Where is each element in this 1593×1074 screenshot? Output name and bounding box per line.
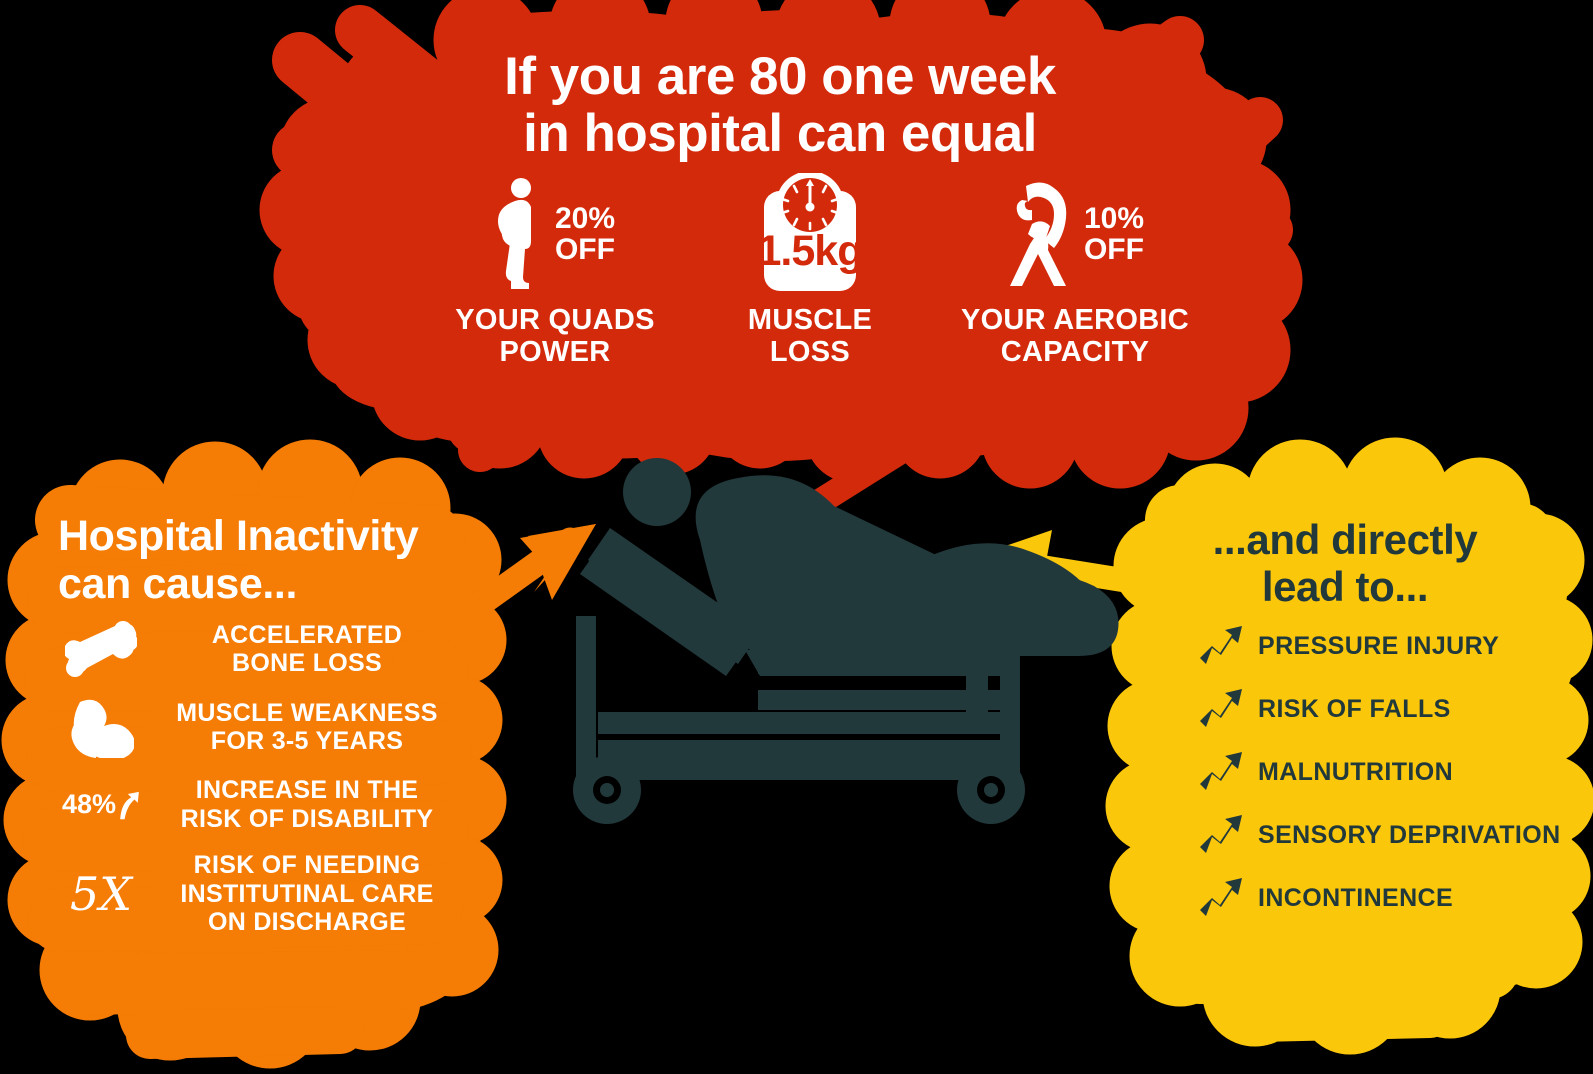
trend-up-icon (1198, 622, 1244, 671)
red-headline-line-2: in hospital can equal (430, 105, 1130, 162)
multiplier-badge: 5X (70, 867, 132, 921)
stat-aerobic-value: 10% OFF (1084, 204, 1144, 265)
list-item: INCONTINENCE (1198, 867, 1588, 930)
trend-up-icon (1198, 874, 1244, 923)
yellow-headline-line-1: ...and directly (1175, 516, 1515, 563)
orange-causes-list: ACCELERATED BONE LOSS MUSCLE WEAKNESS FO… (62, 620, 462, 955)
list-item: 5X RISK OF NEEDING INSTITUTINAL CARE ON … (62, 851, 462, 937)
list-item: SENSORY DEPRIVATION (1198, 804, 1588, 867)
red-panel-headline: If you are 80 one week in hospital can e… (430, 48, 1130, 162)
list-item: PRESSURE INJURY (1198, 615, 1588, 678)
list-item-label: MALNUTRITION (1258, 758, 1453, 787)
standing-person-icon (495, 177, 547, 294)
list-item: ACCELERATED BONE LOSS (62, 620, 462, 678)
stat-muscle-loss: 1.5kg MUSCLE LOSS (685, 175, 935, 369)
trend-up-icon (1198, 748, 1244, 797)
orange-panel-headline: Hospital Inactivity can cause... (58, 512, 478, 608)
red-headline-line-1: If you are 80 one week (430, 48, 1130, 105)
stat-quads-value: 20% OFF (555, 204, 615, 265)
list-item: RISK OF FALLS (1198, 678, 1588, 741)
orange-headline-line-1: Hospital Inactivity (58, 512, 478, 560)
infographic-canvas: If you are 80 one week in hospital can e… (0, 0, 1593, 1074)
stat-aerobic-label: YOUR AEROBIC CAPACITY (935, 305, 1215, 369)
list-item-label: RISK OF FALLS (1258, 695, 1451, 724)
weight-scale-icon: 1.5kg (750, 173, 870, 298)
yellow-panel-headline: ...and directly lead to... (1175, 516, 1515, 610)
list-item-label: PRESSURE INJURY (1258, 632, 1499, 661)
red-stats-row: 20% OFF YOUR QUADS POWER (430, 175, 1230, 375)
increase-percent-badge: 48% (62, 789, 116, 820)
stat-aerobic-capacity: 10% OFF YOUR AEROBIC CAPACITY (935, 175, 1215, 369)
orange-headline-line-2: can cause... (58, 560, 478, 608)
list-item-label: MUSCLE WEAKNESS FOR 3-5 YEARS (152, 699, 462, 756)
patient-in-hospital-bed-icon (573, 458, 1119, 824)
stretching-person-icon (1006, 178, 1076, 293)
list-item-label: RISK OF NEEDING INSTITUTINAL CARE ON DIS… (152, 851, 462, 937)
bicep-muscle-icon (62, 696, 140, 758)
trend-up-icon (1198, 811, 1244, 860)
list-item-label: ACCELERATED BONE LOSS (152, 621, 462, 678)
stat-quads-label: YOUR QUADS POWER (430, 305, 680, 369)
up-arrow-icon: 48% (62, 777, 140, 833)
list-item: MUSCLE WEAKNESS FOR 3-5 YEARS (62, 696, 462, 758)
list-item-label: SENSORY DEPRIVATION (1258, 821, 1561, 850)
stat-muscle-label: MUSCLE LOSS (685, 305, 935, 369)
list-item: MALNUTRITION (1198, 741, 1588, 804)
multiplier-icon: 5X (62, 867, 140, 921)
list-item: 48% INCREASE IN THE RISK OF DISABILITY (62, 776, 462, 833)
yellow-headline-line-2: lead to... (1175, 563, 1515, 610)
stat-muscle-value: 1.5kg (750, 227, 870, 276)
list-item-label: INCREASE IN THE RISK OF DISABILITY (152, 776, 462, 833)
trend-up-icon (1198, 685, 1244, 734)
bone-icon (62, 620, 140, 678)
list-item-label: INCONTINENCE (1258, 884, 1453, 913)
stat-quads-power: 20% OFF YOUR QUADS POWER (430, 175, 680, 369)
yellow-outcomes-list: PRESSURE INJURY RISK OF FALLS MALNUTRITI… (1198, 615, 1588, 930)
